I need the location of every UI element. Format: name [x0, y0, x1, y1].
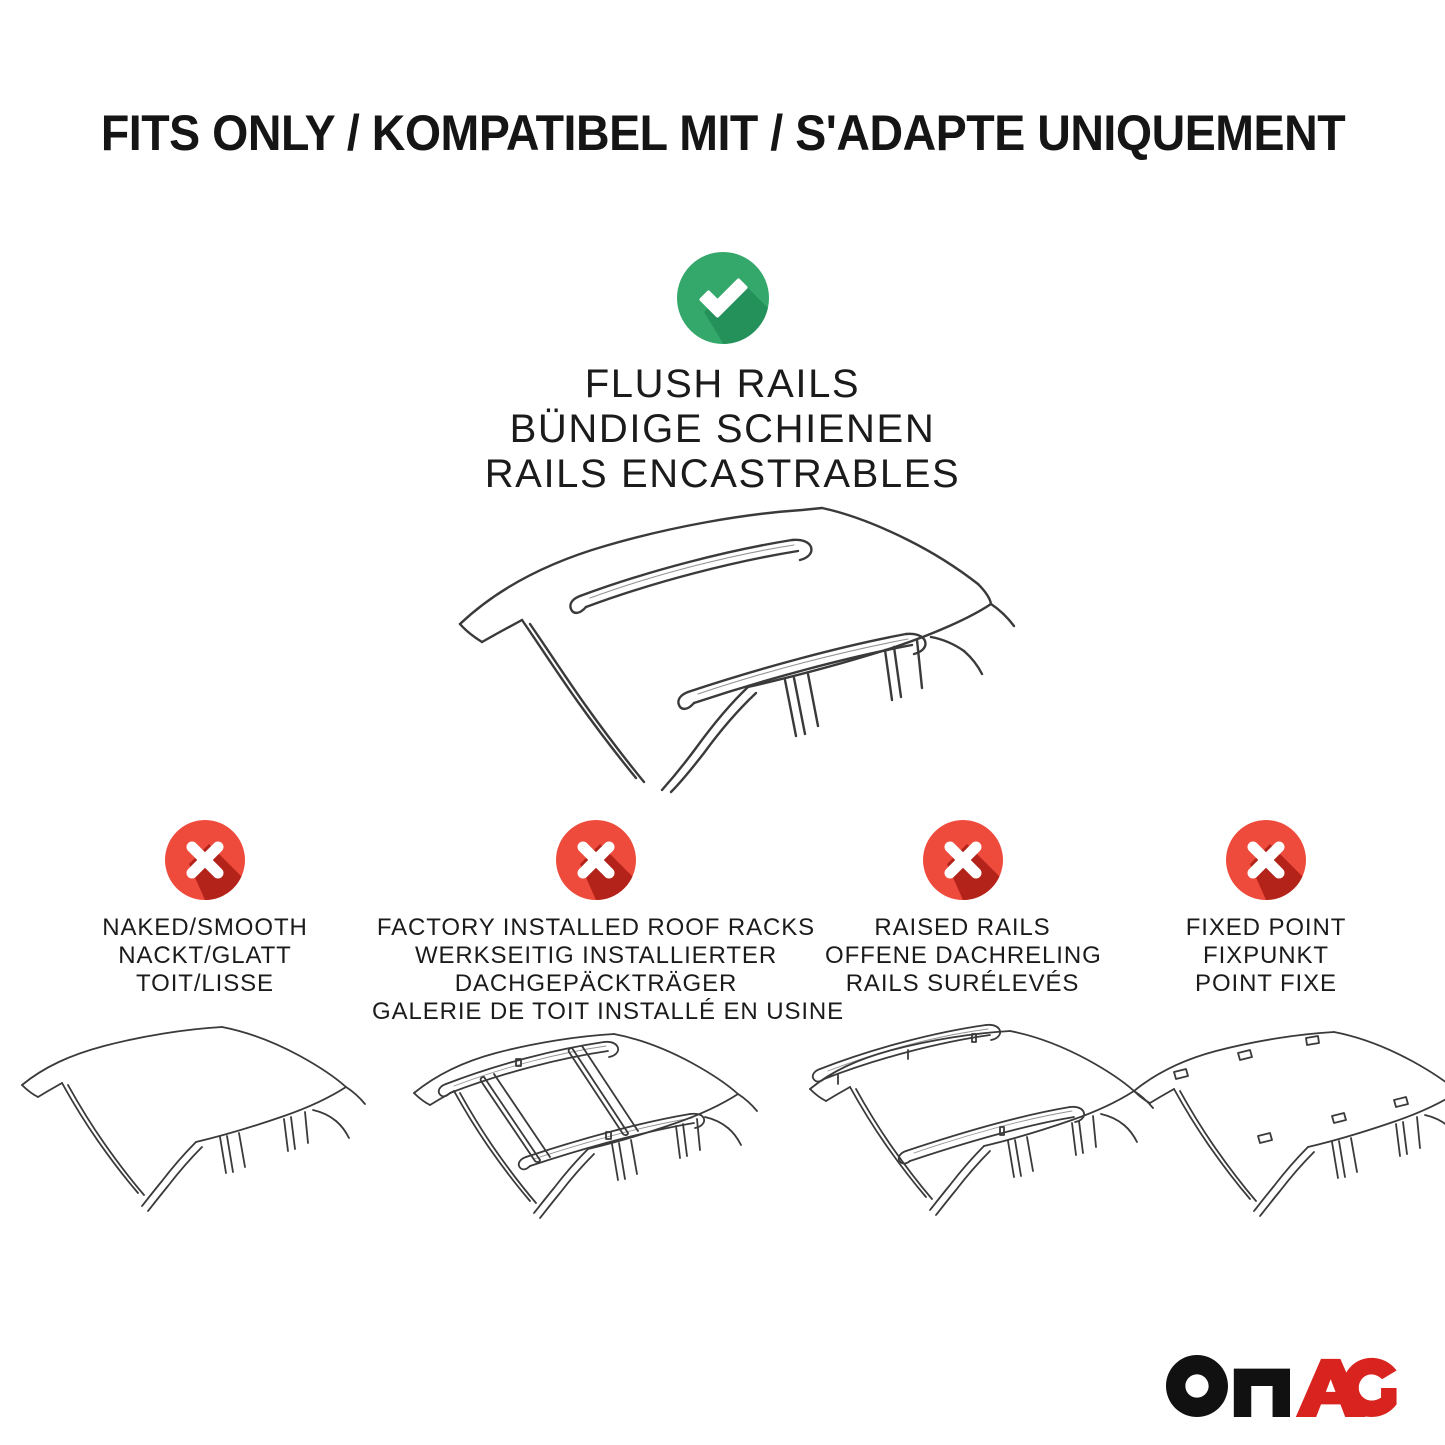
compatible-label-de: BÜNDIGE SCHIENEN	[0, 407, 1445, 452]
incompatible-illustrations	[0, 1015, 1445, 1265]
car-roof-flush-rails-illustration	[430, 474, 1030, 794]
compatible-label-en: FLUSH RAILS	[0, 362, 1445, 407]
x-circle-icon	[556, 820, 636, 900]
label-fr: RAILS SURÉLEVÉS	[825, 970, 1100, 998]
check-circle-icon	[677, 252, 769, 344]
label-fr: POINT FIXE	[1130, 970, 1402, 998]
incompatible-item-naked-smooth: NAKED/SMOOTH NACKT/GLATT TOIT/LISSE	[45, 820, 365, 998]
label-en: FIXED POINT	[1130, 914, 1402, 942]
incompatible-item-factory-installed-roof-racks: FACTORY INSTALLED ROOF RACKS WERKSEITIG …	[372, 820, 820, 1026]
incompatible-item-raised-rails: RAISED RAILS OFFENE DACHRELING RAILS SUR…	[825, 820, 1100, 998]
x-circle-icon	[923, 820, 1003, 900]
label-de: OFFENE DACHRELING	[825, 942, 1100, 970]
car-roof-factory-racks-illustration	[398, 1015, 790, 1265]
label-en: FACTORY INSTALLED ROOF RACKS	[372, 914, 820, 942]
label-de-1: WERKSEITIG INSTALLIERTER	[372, 942, 820, 970]
page-title: FITS ONLY / KOMPATIBEL MIT / S'ADAPTE UN…	[0, 104, 1445, 162]
car-roof-fixed-point-illustration	[1110, 1015, 1445, 1265]
label-de: NACKT/GLATT	[45, 942, 365, 970]
label-de: FIXPUNKT	[1130, 942, 1402, 970]
incompatible-labels-raised-rails: RAISED RAILS OFFENE DACHRELING RAILS SUR…	[825, 914, 1100, 998]
x-circle-icon	[1226, 820, 1306, 900]
compatibility-infographic: FITS ONLY / KOMPATIBEL MIT / S'ADAPTE UN…	[0, 0, 1445, 1445]
incompatible-labels-fixed-point: FIXED POINT FIXPUNKT POINT FIXE	[1130, 914, 1402, 998]
label-fr: TOIT/LISSE	[45, 970, 365, 998]
compatible-section: FLUSH RAILS BÜNDIGE SCHIENEN RAILS ENCAS…	[0, 252, 1445, 497]
incompatible-item-fixed-point: FIXED POINT FIXPUNKT POINT FIXE	[1130, 820, 1402, 998]
incompatible-labels-factory-racks: FACTORY INSTALLED ROOF RACKS WERKSEITIG …	[372, 914, 820, 1026]
omac-logo	[1166, 1355, 1397, 1417]
incompatible-labels-naked-smooth: NAKED/SMOOTH NACKT/GLATT TOIT/LISSE	[45, 914, 365, 998]
page-title-text: FITS ONLY / KOMPATIBEL MIT / S'ADAPTE UN…	[100, 104, 1344, 162]
car-roof-naked-illustration	[8, 1015, 400, 1265]
label-en: RAISED RAILS	[825, 914, 1100, 942]
x-circle-icon	[165, 820, 245, 900]
label-de-2: DACHGEPÄCKTRÄGER	[372, 970, 820, 998]
label-en: NAKED/SMOOTH	[45, 914, 365, 942]
